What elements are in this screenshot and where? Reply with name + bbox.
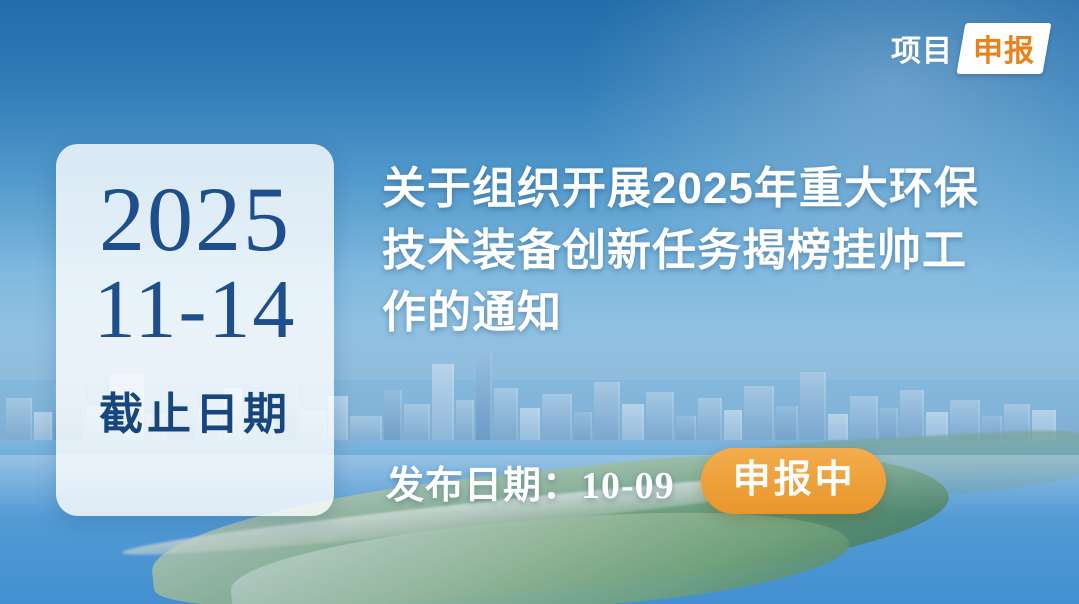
announcement-title: 关于组织开展2025年重大环保技术装备创新任务揭榜挂帅工作的通知 [382, 158, 1007, 344]
announcement-poster: 项目 申报 2025 11-14 截止日期 关于组织开展2025年重大环保技术装… [0, 0, 1079, 604]
status-badge[interactable]: 申报中 [701, 448, 886, 514]
deadline-date-card: 2025 11-14 截止日期 [56, 144, 334, 516]
publish-date: 发布日期：10-09 [386, 454, 675, 509]
deadline-label: 截止日期 [99, 390, 291, 440]
project-declaration-badge: 项目 申报 [876, 22, 1055, 74]
badge-highlight-box: 申报 [957, 23, 1052, 74]
publish-status-row: 发布日期：10-09 申报中 [386, 448, 886, 514]
deadline-year: 2025 [99, 170, 291, 268]
deadline-day: 11-14 [94, 264, 297, 356]
badge-prefix-text: 项目 [891, 26, 961, 70]
badge-highlight-text: 申报 [973, 26, 1035, 70]
